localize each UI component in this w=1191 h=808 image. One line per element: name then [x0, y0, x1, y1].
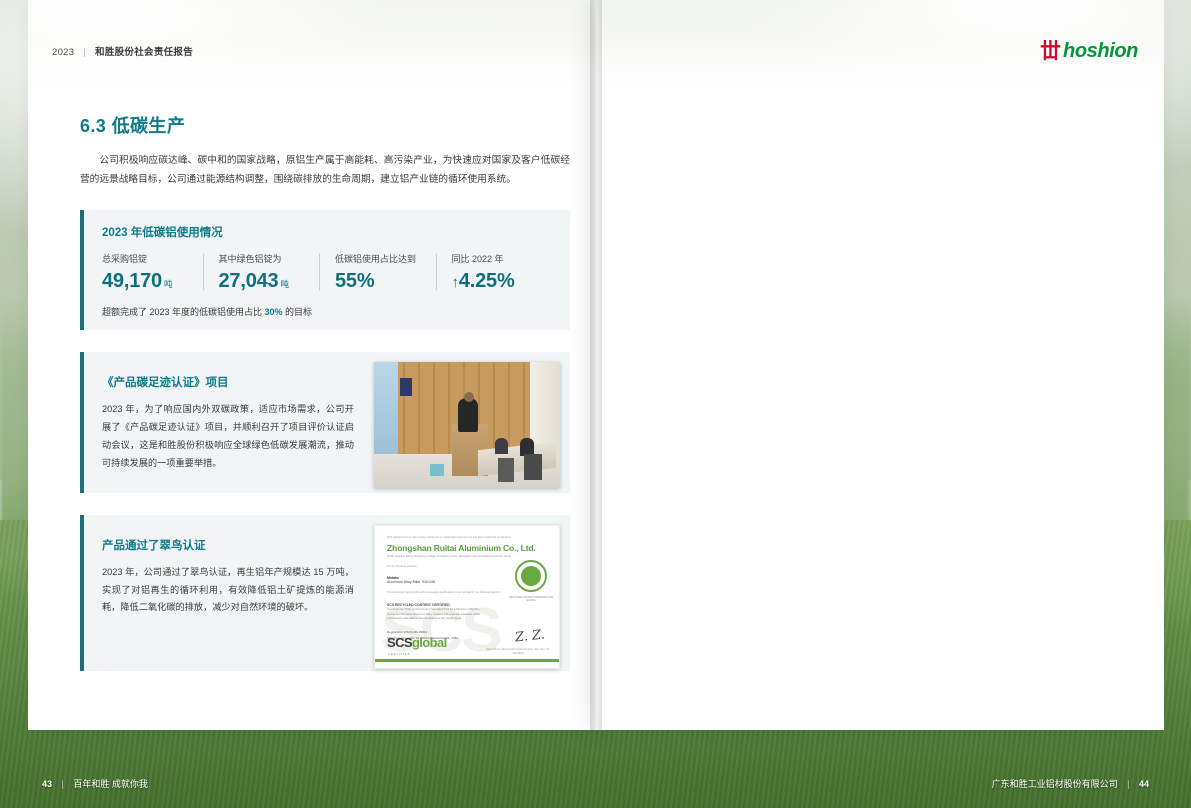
left-page: 2023 | 和胜股份社会责任报告 6.3 低碳生产 公司积极响应碳达峰、碳中和… — [28, 0, 596, 730]
right-page-footer: 广东和胜工业铝材股份有限公司 | 44 — [992, 777, 1149, 790]
stat-unit: 吨 — [164, 279, 172, 289]
stat-value: 27,043吨 — [219, 270, 312, 293]
footer-company-name: 广东和胜工业铝材股份有限公司 — [992, 779, 1118, 789]
intro-paragraph: 公司积极响应碳达峰、碳中和的国家战略，原铝生产属于高能耗、高污染产业，为快速应对… — [80, 152, 570, 190]
feature-card-title: 《产品碳足迹认证》项目 — [102, 374, 354, 390]
right-page: 丗 hoshion 铝合金型材产品减碳路径 2023年，公司制定了铝合金型材产品… — [596, 0, 1164, 730]
feature-card-kingfisher-certification: 产品通过了翠鸟认证 2023 年，公司通过了翠鸟认证，再生铝年产规模达 15 万… — [80, 515, 570, 671]
note-prefix: 超额完成了 2023 年度的低碳铝使用占比 — [102, 307, 265, 317]
stat-value: 55% — [335, 270, 428, 293]
low-carbon-stats-card: 2023 年低碳铝使用情况 总采购铝锭 49,170吨 其中绿色铝锭为 27,0… — [80, 210, 570, 330]
page-spread: 2023 | 和胜股份社会责任报告 6.3 低碳生产 公司积极响应碳达峰、碳中和… — [0, 0, 1191, 808]
stat-item: 总采购铝锭 49,170吨 — [102, 252, 203, 293]
certificate-preamble: SCS Global Services does hereby certify … — [387, 536, 547, 540]
feature-card-carbon-footprint: 《产品碳足迹认证》项目 2023 年，为了响应国内外双碳政策，适应市场需求，公司… — [80, 352, 570, 493]
stat-label: 其中绿色铝锭为 — [219, 252, 312, 265]
footer-separator: | — [62, 779, 64, 789]
left-content-column: 6.3 低碳生产 公司积极响应碳达峰、碳中和的国家战略，原铝生产属于高能耗、高污… — [80, 112, 570, 671]
scs-certificate-image: SCS SCS Global Services does hereby cert… — [374, 525, 560, 669]
certificate-seal-icon — [515, 560, 547, 592]
footer-page-number: 44 — [1139, 779, 1149, 789]
certificate-signature-line: Nicole Munoz, Director SCS Global Servic… — [485, 648, 551, 655]
feature-card-title: 产品通过了翠鸟认证 — [102, 537, 354, 553]
feature-card-body: 《产品碳足迹认证》项目 2023 年，为了响应国内外双碳政策，适应市场需求，公司… — [80, 352, 372, 493]
note-suffix: 的目标 — [283, 307, 313, 317]
logo-wordmark: hoshion — [1063, 41, 1138, 61]
photo-chair — [498, 458, 514, 482]
header-separator: | — [83, 47, 86, 58]
seal-inner — [521, 566, 541, 586]
feature-card-media: SCS SCS Global Services does hereby cert… — [374, 525, 560, 669]
feature-card-text: 2023 年，公司通过了翠鸟认证，再生铝年产规模达 15 万吨，实现了对铝再生的… — [102, 564, 354, 618]
certificate-seal-text: RECYCLED CONTENT CERTIFIED SCS GLOBAL — [509, 596, 553, 603]
footer-tagline: 百年和胜 成就你我 — [73, 779, 148, 789]
footer-page-number: 43 — [42, 779, 52, 789]
note-highlight: 30% — [265, 307, 283, 317]
stat-item: 低碳铝使用占比达到 55% — [319, 252, 436, 293]
up-arrow-icon: ↑ — [452, 274, 459, 291]
photo-presenter-body — [458, 398, 478, 432]
certificate-company-address: No.55 Jiaokeng Street, Dongsheng Village… — [387, 555, 547, 558]
section-title: 6.3 低碳生产 — [80, 112, 570, 138]
logo-mark-icon: 丗 — [1040, 41, 1061, 62]
scs-logo-subtitle: CERTIFIED — [388, 653, 411, 656]
stat-label: 低碳铝使用占比达到 — [335, 252, 428, 265]
feature-card-media — [374, 362, 560, 488]
left-page-top-photo — [28, 0, 596, 86]
stat-number: 27,043 — [219, 270, 279, 292]
photo-wall-speaker — [400, 378, 412, 396]
certificate-bottom-rule — [375, 659, 559, 662]
page-gutter-shadow — [590, 0, 602, 730]
logo-global: global — [412, 635, 447, 650]
stats-card-note: 超额完成了 2023 年度的低碳铝使用占比 30% 的目标 — [102, 305, 552, 318]
conference-photo — [374, 362, 560, 488]
hoshion-logo: 丗 hoshion — [1040, 40, 1138, 61]
photo-window — [374, 362, 398, 454]
header-year: 2023 — [52, 47, 74, 58]
logo-scs: SCS — [387, 635, 412, 650]
stat-item: 其中绿色铝锭为 27,043吨 — [203, 252, 320, 293]
certificate-company: Zhongshan Ruitai Aluminium Co., Ltd. — [387, 543, 547, 553]
stats-card-title: 2023 年低碳铝使用情况 — [102, 224, 552, 240]
feature-card-text: 2023 年，为了响应国内外双碳政策，适应市场需求，公司开展了《产品碳足迹认证》… — [102, 401, 354, 473]
card-accent-bar — [80, 515, 84, 671]
stat-value: 49,170吨 — [102, 270, 195, 293]
stats-row: 总采购铝锭 49,170吨 其中绿色铝锭为 27,043吨 低碳铝使用占比达到 … — [102, 252, 552, 293]
footer-separator: | — [1127, 779, 1129, 789]
stat-unit: 吨 — [280, 279, 288, 289]
stat-number: 55% — [335, 270, 374, 292]
photo-attendee — [495, 438, 508, 454]
card-accent-bar — [80, 352, 84, 493]
certificate-claim-body: Certificate for 75 Recycled Content Stan… — [387, 607, 491, 620]
page-header: 2023 | 和胜股份社会责任报告 — [52, 44, 193, 58]
stat-item: 同比 2022 年 ↑4.25% — [436, 252, 553, 293]
stat-number: 49,170 — [102, 270, 162, 292]
scs-global-logo: SCSglobal — [387, 635, 447, 650]
card-accent-bar — [80, 210, 84, 330]
photo-presenter-head — [464, 392, 474, 402]
stat-label: 总采购铝锭 — [102, 252, 195, 265]
stat-number: 4.25% — [459, 270, 515, 292]
header-report-title: 和胜股份社会责任报告 — [95, 47, 193, 58]
stat-value: ↑4.25% — [452, 270, 545, 293]
left-page-footer: 43 | 百年和胜 成就你我 — [42, 777, 148, 790]
photo-chair — [524, 454, 542, 480]
certificate-signature: Z. Z. — [514, 627, 545, 645]
photo-stool — [430, 464, 444, 476]
feature-card-body: 产品通过了翠鸟认证 2023 年，公司通过了翠鸟认证，再生铝年产规模达 15 万… — [80, 515, 372, 638]
stat-label: 同比 2022 年 — [452, 252, 545, 265]
